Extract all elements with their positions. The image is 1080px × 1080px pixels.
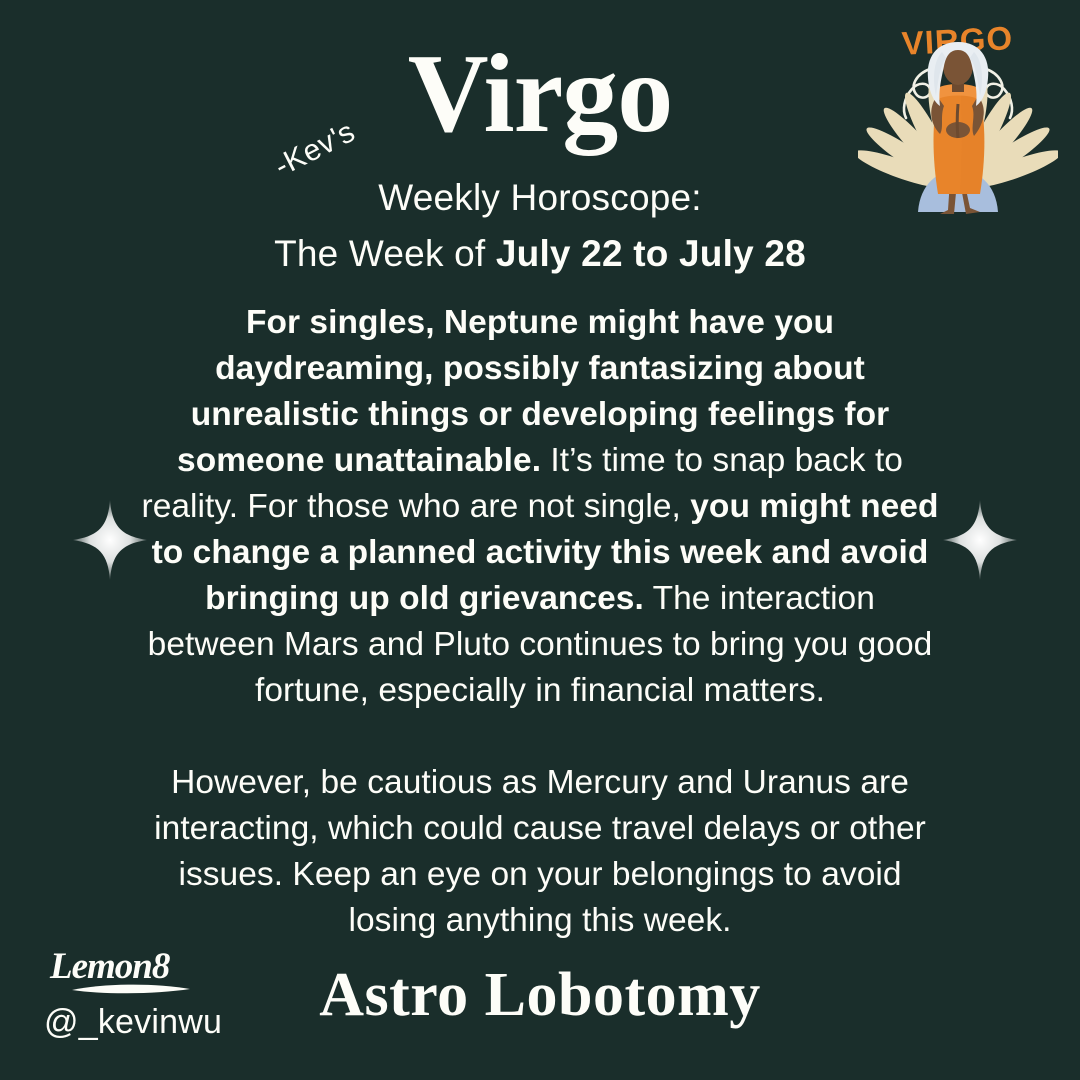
text-run-0: However, be cautious as Mercury and Uran… <box>154 764 926 939</box>
sparkle-left-icon <box>73 500 147 580</box>
virgo-illustration: VIRGO <box>858 12 1058 217</box>
week-of-label: The Week of <box>274 233 496 274</box>
paragraph-1: For singles, Neptune might have you dayd… <box>140 300 940 714</box>
paragraph-2: However, be cautious as Mercury and Uran… <box>140 760 940 944</box>
horoscope-body: For singles, Neptune might have you dayd… <box>140 300 940 944</box>
date-range: July 22 to July 28 <box>496 233 806 274</box>
horoscope-card: Virgo -Kev's Weekly Horoscope: The Week … <box>0 0 1080 1080</box>
brand-title: Astro Lobotomy <box>0 960 1080 1031</box>
sparkle-right-icon <box>943 500 1017 580</box>
subtitle-line-2: The Week of July 22 to July 28 <box>0 226 1080 282</box>
paragraph-spacer <box>140 714 940 760</box>
